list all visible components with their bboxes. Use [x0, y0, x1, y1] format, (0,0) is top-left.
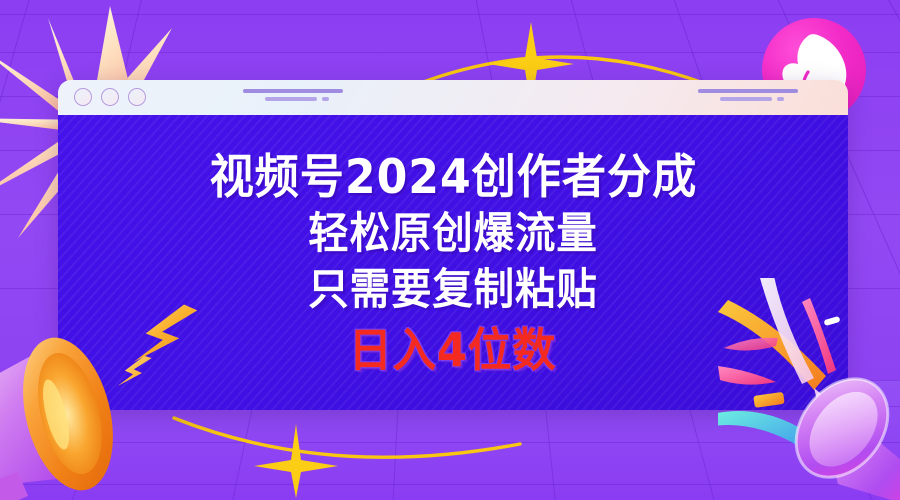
headline-line-2: 轻松原创爆流量: [308, 212, 598, 258]
party-popper-icon: [718, 278, 900, 500]
headline-line-1: 视频号2024创作者分成: [209, 153, 697, 203]
url-placeholder-left[interactable]: [243, 89, 343, 101]
headline-line-3: 只需要复制粘贴: [308, 268, 598, 314]
promo-banner: 视频号2024创作者分成 轻松原创爆流量 只需要复制粘贴 日入4位数: [0, 0, 900, 500]
browser-title-bar: [58, 80, 848, 115]
traffic-light-dot-1[interactable]: [74, 88, 92, 106]
traffic-light-dots: [74, 88, 146, 106]
megaphone-icon: [0, 318, 172, 500]
url-placeholder-right[interactable]: [698, 89, 798, 101]
traffic-light-dot-3[interactable]: [128, 88, 146, 106]
traffic-light-dot-2[interactable]: [101, 88, 119, 106]
headline-line-4: 日入4位数: [349, 326, 557, 375]
